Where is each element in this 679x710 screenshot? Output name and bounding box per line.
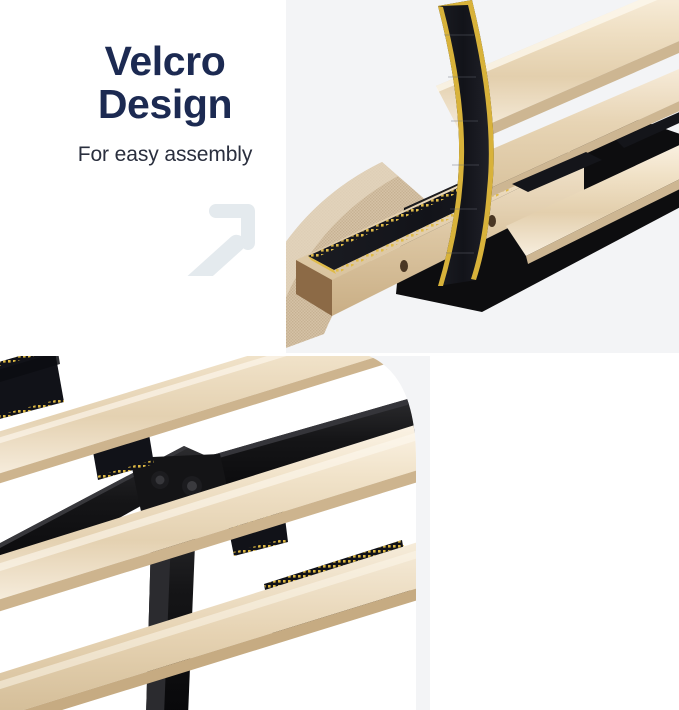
velcro-subhead: For easy assembly	[40, 143, 290, 167]
velcro-headline-line1: Velcro	[105, 38, 226, 84]
feature-collage: Velcro Design For easy assembly	[0, 0, 679, 710]
velcro-strap-photo	[286, 0, 679, 353]
velcro-headline: Velcro Design	[40, 40, 290, 127]
eva-foam-slats-photo	[0, 356, 418, 710]
arrow-up-right-icon	[176, 198, 256, 276]
velcro-text-block: Velcro Design For easy assembly	[40, 40, 290, 167]
feature-panel-velcro: Velcro Design For easy assembly	[0, 0, 679, 353]
velcro-headline-line2: Design	[98, 81, 232, 127]
feature-panel-eva-foam: EVA Foam Makes Noise Free	[0, 356, 679, 710]
